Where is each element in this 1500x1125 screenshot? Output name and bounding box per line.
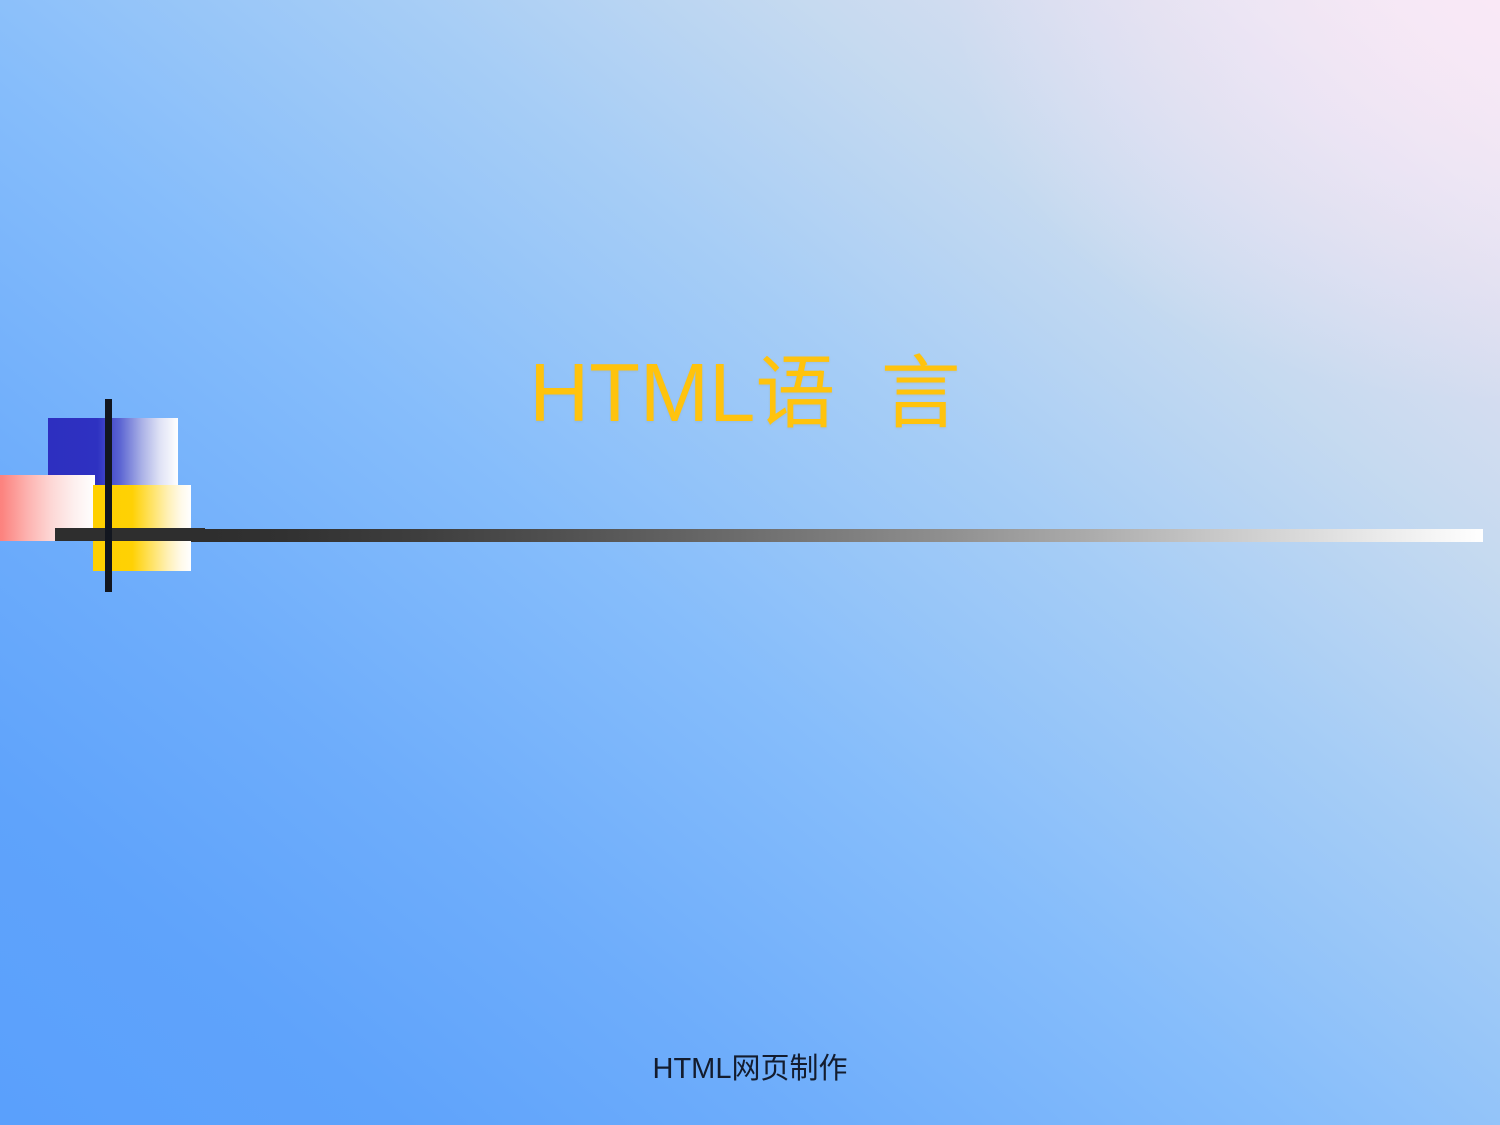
slide-title-cjk: 语 言 — [755, 347, 970, 440]
horizontal-dark-bar — [55, 528, 205, 541]
slide-title-latin: HTML — [529, 346, 755, 439]
title-underline-rule — [150, 529, 1483, 542]
presentation-slide: HTML语 言 HTML网页制作 — [0, 0, 1500, 1125]
slide-footer: HTML网页制作 — [0, 1052, 1500, 1087]
slide-title: HTML语 言 — [0, 347, 1500, 440]
